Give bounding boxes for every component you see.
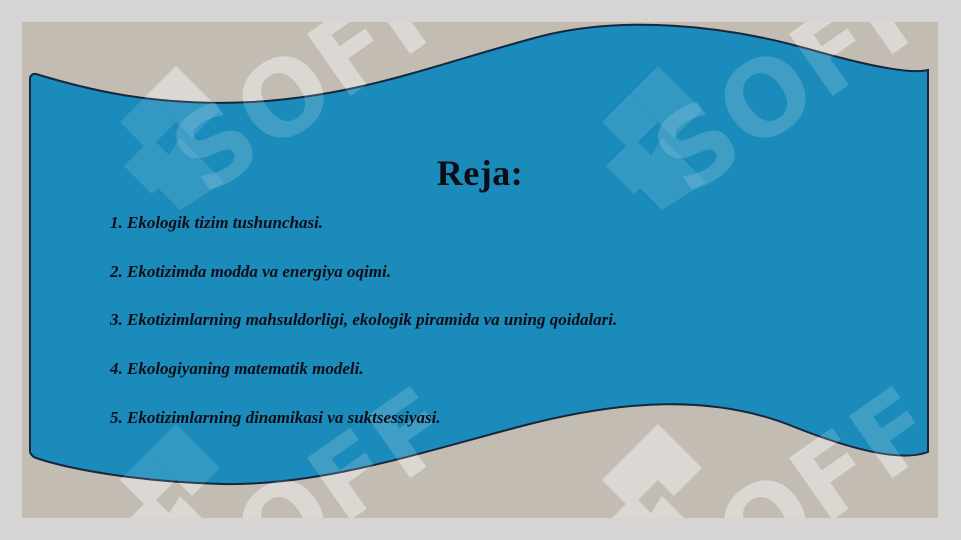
slide-title: Reja: <box>22 152 938 194</box>
plan-list-item: 4. Ekologiyaning matematik modeli. <box>110 360 920 379</box>
plan-list-item: 1. Ekologik tizim tushunchasi. <box>110 214 920 233</box>
plan-list: 1. Ekologik tizim tushunchasi. 2. Ekotiz… <box>110 214 920 457</box>
slide-content: Reja: 1. Ekologik tizim tushunchasi. 2. … <box>22 22 938 518</box>
slide-canvas: SOFF SOFF SOFF SOFF <box>22 22 938 518</box>
presentation-slide: SOFF SOFF SOFF SOFF <box>0 0 961 540</box>
plan-list-item: 5. Ekotizimlarning dinamikasi va suktses… <box>110 409 920 428</box>
plan-list-item: 3. Ekotizimlarning mahsuldorligi, ekolog… <box>110 311 920 330</box>
plan-list-item: 2. Ekotizimda modda va energiya oqimi. <box>110 263 920 282</box>
